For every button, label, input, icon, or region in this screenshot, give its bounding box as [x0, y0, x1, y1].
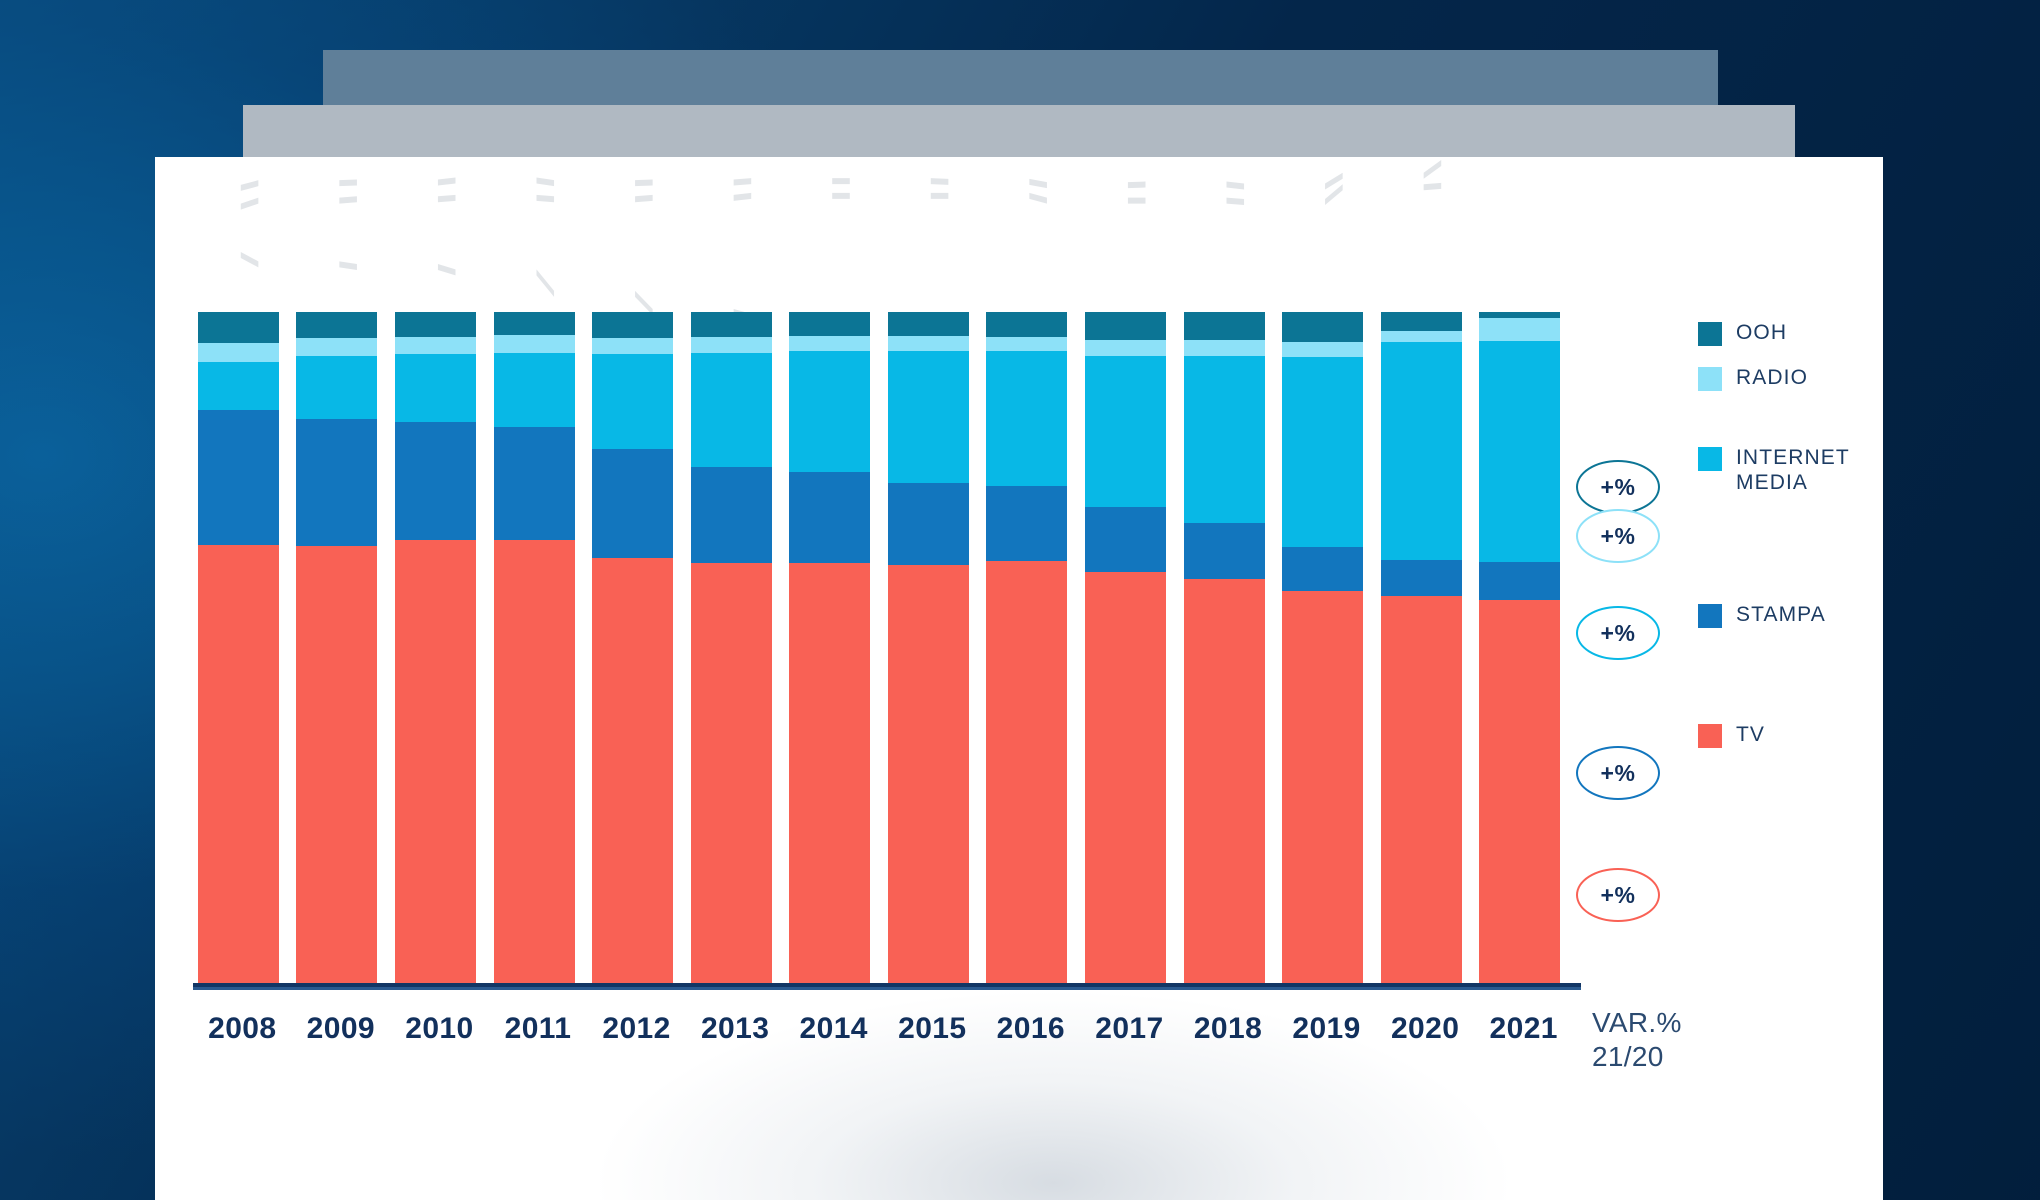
segment-ooh-2018[interactable] — [1184, 312, 1265, 340]
legend-swatch-icon — [1698, 724, 1722, 748]
connector-ribbon — [537, 177, 555, 186]
segment-stampa-2017[interactable] — [1085, 507, 1166, 572]
connector-ribbon — [1424, 160, 1442, 179]
bar-2013[interactable] — [691, 312, 772, 983]
connector-ribbon — [832, 178, 850, 184]
bar-2015[interactable] — [888, 312, 969, 983]
x-axis-line — [193, 983, 1581, 990]
segment-ooh-2011[interactable] — [494, 312, 575, 335]
segment-internet-media-2014[interactable] — [789, 351, 870, 472]
segment-internet-media-2019[interactable] — [1282, 357, 1363, 547]
segment-internet-media-2009[interactable] — [296, 356, 377, 420]
segment-internet-media-2018[interactable] — [1184, 356, 1265, 524]
segment-stampa-2008[interactable] — [198, 410, 279, 545]
connector-ribbon — [537, 269, 555, 296]
segment-ooh-2020[interactable] — [1381, 312, 1462, 331]
legend-label: TV — [1736, 722, 1765, 747]
x-axis-label-2018: 2018 — [1179, 1012, 1278, 1046]
segment-stampa-2011[interactable] — [494, 427, 575, 540]
segment-radio-2008[interactable] — [198, 343, 279, 362]
segment-tv-2008[interactable] — [198, 545, 279, 983]
segment-ooh-2010[interactable] — [395, 312, 476, 337]
segment-tv-2010[interactable] — [395, 540, 476, 983]
segment-stampa-2021[interactable] — [1479, 562, 1560, 600]
connector-ribbon — [438, 195, 456, 202]
connector-ribbon — [734, 178, 752, 185]
legend-swatch-icon — [1698, 447, 1722, 471]
bar-2017[interactable] — [1085, 312, 1166, 983]
segment-stampa-2013[interactable] — [691, 467, 772, 563]
connector-ribbon — [931, 178, 949, 185]
segment-internet-media-2020[interactable] — [1381, 342, 1462, 559]
connector-ribbon — [1128, 182, 1146, 189]
segment-tv-2017[interactable] — [1085, 572, 1166, 983]
segment-internet-media-2015[interactable] — [888, 351, 969, 483]
legend-label: OOH — [1736, 320, 1787, 345]
legend-label: STAMPA — [1736, 602, 1826, 627]
segment-radio-2017[interactable] — [1085, 340, 1166, 355]
x-axis-label-2012: 2012 — [587, 1012, 686, 1046]
connector-ribbon — [339, 261, 357, 270]
segment-radio-2012[interactable] — [592, 338, 673, 354]
x-axis-label-2020: 2020 — [1376, 1012, 1475, 1046]
bar-2019[interactable] — [1282, 312, 1363, 983]
segment-internet-media-2012[interactable] — [592, 354, 673, 449]
connector-ribbon — [1029, 193, 1047, 204]
segment-ooh-2014[interactable] — [789, 312, 870, 336]
connector-ribbon — [635, 195, 653, 202]
connector-ribbon — [734, 193, 752, 201]
x-axis-label-2016: 2016 — [982, 1012, 1081, 1046]
var-label-line1: VAR.% — [1592, 1007, 1682, 1038]
segment-stampa-2009[interactable] — [296, 419, 377, 546]
var-label-line2: 21/20 — [1592, 1041, 1664, 1072]
segment-stampa-2018[interactable] — [1184, 523, 1265, 579]
segment-tv-2020[interactable] — [1381, 596, 1462, 983]
segment-radio-2018[interactable] — [1184, 340, 1265, 356]
x-axis-label-2013: 2013 — [686, 1012, 785, 1046]
segment-stampa-2010[interactable] — [395, 422, 476, 540]
segment-radio-2009[interactable] — [296, 338, 377, 355]
segment-internet-media-2016[interactable] — [986, 351, 1067, 486]
segment-ooh-2016[interactable] — [986, 312, 1067, 337]
segment-tv-2012[interactable] — [592, 558, 673, 983]
segment-tv-2019[interactable] — [1282, 591, 1363, 983]
legend-swatch-icon — [1698, 367, 1722, 391]
segment-ooh-2012[interactable] — [592, 312, 673, 338]
segment-radio-2010[interactable] — [395, 337, 476, 354]
segment-internet-media-2021[interactable] — [1479, 341, 1560, 562]
connector-ribbon — [635, 179, 653, 186]
segment-internet-media-2013[interactable] — [691, 353, 772, 467]
bar-2008[interactable] — [198, 312, 279, 983]
segment-ooh-2019[interactable] — [1282, 312, 1363, 342]
plot-area — [193, 312, 1573, 983]
connector-ribbon — [1128, 198, 1146, 204]
x-axis-label-2019: 2019 — [1277, 1012, 1376, 1046]
bar-2014[interactable] — [789, 312, 870, 983]
bar-2018[interactable] — [1184, 312, 1265, 983]
legend-label: RADIO — [1736, 365, 1808, 390]
x-axis-label-2011: 2011 — [489, 1012, 588, 1046]
segment-radio-2015[interactable] — [888, 336, 969, 351]
x-axis-labels: 2008200920102011201220132014201520162017… — [193, 1012, 1573, 1056]
x-axis-label-2017: 2017 — [1080, 1012, 1179, 1046]
segment-tv-2013[interactable] — [691, 563, 772, 983]
variation-badge-stampa[interactable]: +% — [1576, 746, 1660, 800]
x-axis-label-2014: 2014 — [784, 1012, 883, 1046]
segment-internet-media-2017[interactable] — [1085, 356, 1166, 507]
connector-ribbon — [241, 252, 259, 267]
segment-ooh-2017[interactable] — [1085, 312, 1166, 340]
legend-item-internet-media[interactable]: INTERNET MEDIA — [1698, 445, 1850, 495]
chart-card: 2008200920102011201220132014201520162017… — [155, 157, 1883, 1200]
connector-ribbon — [1029, 179, 1047, 188]
segment-tv-2009[interactable] — [296, 546, 377, 983]
connector-ribbon — [1227, 198, 1245, 205]
bar-2012[interactable] — [592, 312, 673, 983]
connector-ribbon — [339, 196, 357, 203]
segment-tv-2015[interactable] — [888, 565, 969, 983]
connector-ribbon — [931, 193, 949, 199]
connector-ribbon — [438, 177, 456, 185]
legend-swatch-icon — [1698, 322, 1722, 346]
connector-ribbon — [537, 195, 555, 202]
bar-2009[interactable] — [296, 312, 377, 983]
segment-tv-2021[interactable] — [1479, 600, 1560, 983]
segment-tv-2011[interactable] — [494, 540, 575, 983]
segment-stampa-2012[interactable] — [592, 449, 673, 558]
connector-ribbon — [339, 179, 357, 186]
connector-ribbon — [241, 180, 259, 191]
connector-ribbon — [1325, 184, 1343, 205]
segment-radio-2016[interactable] — [986, 337, 1067, 351]
legend-item-stampa[interactable]: STAMPA — [1698, 602, 1826, 628]
connector-ribbon — [1424, 183, 1442, 190]
segment-ooh-2015[interactable] — [888, 312, 969, 336]
segment-radio-2019[interactable] — [1282, 342, 1363, 357]
segment-stampa-2014[interactable] — [789, 472, 870, 563]
variation-badge-internet[interactable]: +% — [1576, 606, 1660, 660]
segment-radio-2014[interactable] — [789, 336, 870, 351]
segment-stampa-2019[interactable] — [1282, 547, 1363, 591]
segment-radio-2020[interactable] — [1381, 331, 1462, 342]
segment-tv-2016[interactable] — [986, 561, 1067, 983]
var-percent-axis-note: VAR.%21/20 — [1592, 1006, 1682, 1074]
bar-2016[interactable] — [986, 312, 1067, 983]
connector-ribbon — [1325, 173, 1343, 190]
segment-stampa-2015[interactable] — [888, 483, 969, 565]
segment-internet-media-2010[interactable] — [395, 354, 476, 422]
x-axis-label-2021: 2021 — [1474, 1012, 1573, 1046]
x-axis-label-2010: 2010 — [390, 1012, 489, 1046]
segment-internet-media-2008[interactable] — [198, 362, 279, 410]
connector-ribbon — [438, 264, 456, 275]
variation-badge-ooh[interactable]: +% — [1576, 460, 1660, 514]
legend-item-ooh[interactable]: OOH — [1698, 320, 1787, 346]
x-axis-label-2008: 2008 — [193, 1012, 292, 1046]
stacked-bar-chart: 2008200920102011201220132014201520162017… — [155, 157, 1883, 1200]
bar-2020[interactable] — [1381, 312, 1462, 983]
connector-ribbon — [832, 193, 850, 199]
bar-2010[interactable] — [395, 312, 476, 983]
segment-ooh-2013[interactable] — [691, 312, 772, 337]
bar-2021[interactable] — [1479, 312, 1560, 983]
variation-badge-radio[interactable]: +% — [1576, 509, 1660, 563]
segment-radio-2011[interactable] — [494, 335, 575, 352]
segment-ooh-2008[interactable] — [198, 312, 279, 343]
segment-stampa-2016[interactable] — [986, 486, 1067, 561]
x-axis-label-2015: 2015 — [883, 1012, 982, 1046]
x-axis-label-2009: 2009 — [292, 1012, 391, 1046]
variation-badge-tv[interactable]: +% — [1576, 868, 1660, 922]
screenshot-root: 2008200920102011201220132014201520162017… — [0, 0, 2040, 1200]
segment-radio-2021[interactable] — [1479, 318, 1560, 341]
legend-item-tv[interactable]: TV — [1698, 722, 1765, 748]
legend-label: INTERNET MEDIA — [1736, 445, 1850, 495]
connector-ribbon — [241, 198, 259, 210]
segment-radio-2013[interactable] — [691, 337, 772, 352]
bar-2011[interactable] — [494, 312, 575, 983]
segment-ooh-2009[interactable] — [296, 312, 377, 338]
connector-ribbon — [1227, 182, 1245, 190]
segment-internet-media-2011[interactable] — [494, 353, 575, 427]
legend-swatch-icon — [1698, 604, 1722, 628]
segment-stampa-2020[interactable] — [1381, 560, 1462, 596]
legend-item-radio[interactable]: RADIO — [1698, 365, 1808, 391]
segment-tv-2014[interactable] — [789, 563, 870, 983]
chart-legend: OOHRADIOINTERNET MEDIASTAMPATV — [1698, 157, 1883, 1200]
segment-tv-2018[interactable] — [1184, 579, 1265, 983]
